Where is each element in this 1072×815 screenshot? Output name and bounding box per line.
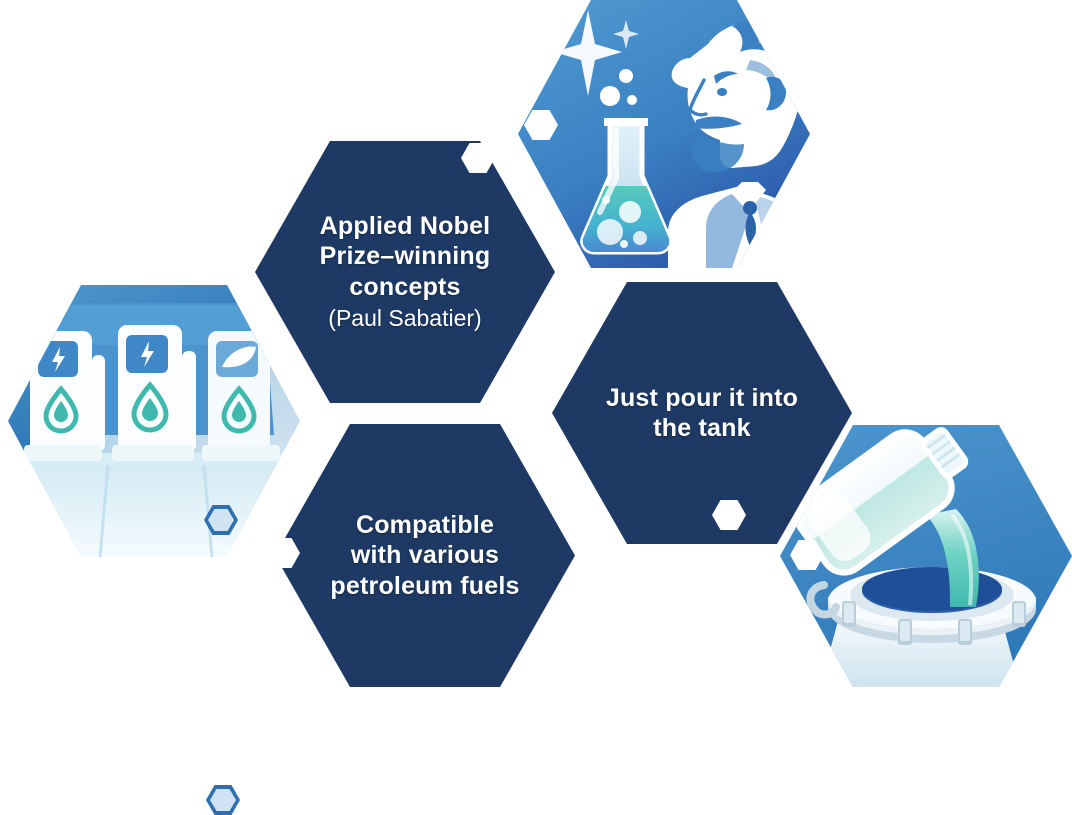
label-line-1: Compatible bbox=[330, 510, 519, 541]
scientist-with-flask-illustration bbox=[518, 0, 810, 268]
label-line-2: the tank bbox=[606, 413, 798, 444]
compatible-with-petroleum-fuels-label: Compatible with various petroleum fuels bbox=[275, 424, 575, 687]
applied-nobel-prize-concepts-label: Applied Nobel Prize–winning concepts (Pa… bbox=[255, 141, 555, 403]
label-line-2: with various bbox=[330, 540, 519, 571]
hex-cell-just-pour-it-into-the-tank[interactable]: Just pour it into the tank bbox=[552, 282, 852, 544]
label-line-3: concepts bbox=[320, 272, 491, 303]
hex-cell-applied-nobel-prize-concepts[interactable]: Applied Nobel Prize–winning concepts (Pa… bbox=[255, 141, 555, 403]
hex-cell-scientist bbox=[518, 0, 810, 268]
label-line-1: Just pour it into bbox=[606, 383, 798, 414]
hex-cell-compatible-with-petroleum-fuels[interactable]: Compatible with various petroleum fuels bbox=[275, 424, 575, 687]
just-pour-it-into-the-tank-label: Just pour it into the tank bbox=[552, 282, 852, 544]
label-line-3: petroleum fuels bbox=[330, 571, 519, 602]
hex-shape-scientist bbox=[518, 0, 810, 268]
applied-nobel-subtitle: (Paul Sabatier) bbox=[328, 304, 481, 333]
hex-accent-dot-fuel-pumps bbox=[206, 785, 240, 815]
label-line-1: Applied Nobel bbox=[320, 211, 491, 242]
label-line-2: Prize–winning bbox=[320, 241, 491, 272]
infographic-canvas: Applied Nobel Prize–winning concepts (Pa… bbox=[0, 0, 1072, 687]
